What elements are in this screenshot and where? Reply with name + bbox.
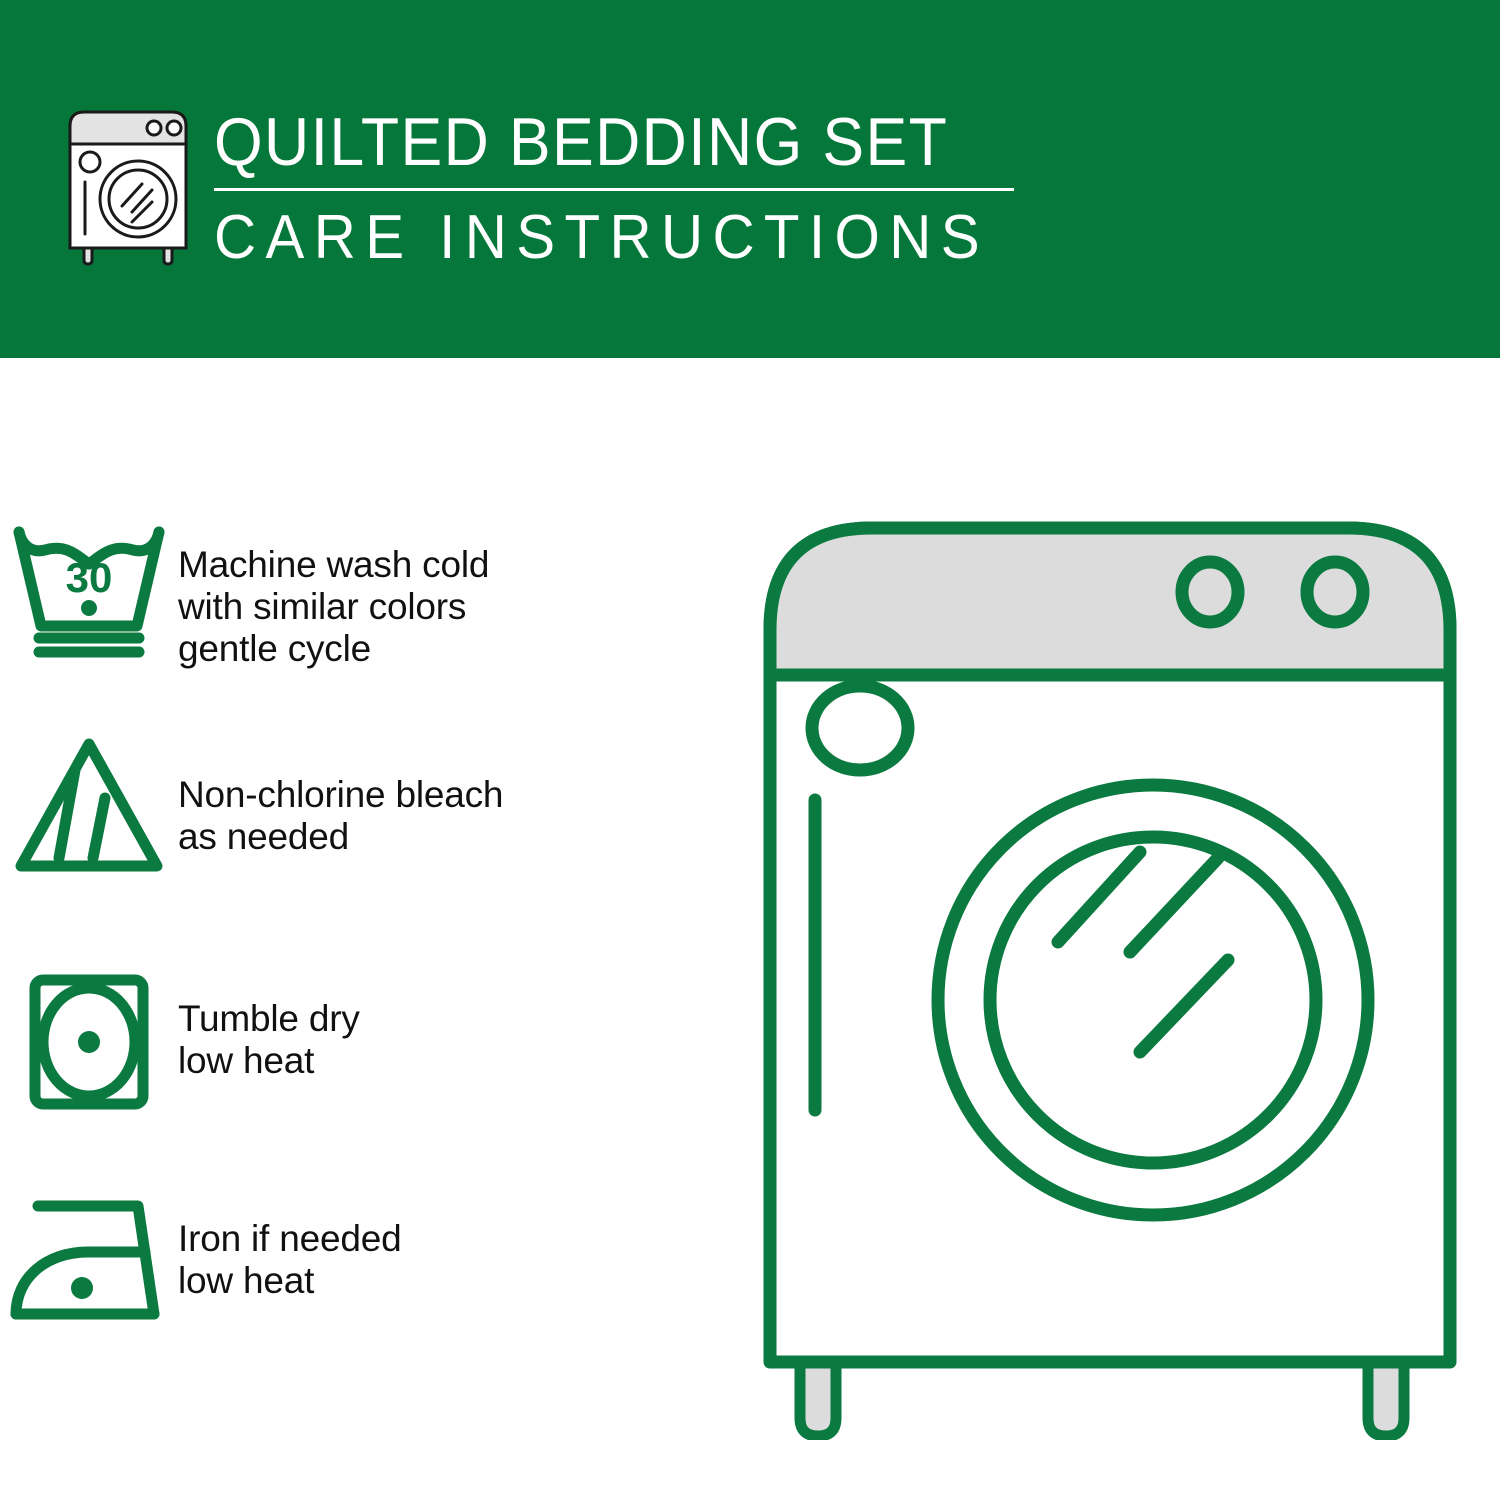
page-subtitle: CARE INSTRUCTIONS [214, 203, 966, 273]
page-title: QUILTED BEDDING SET [214, 104, 950, 180]
tumble-dry-low-icon [0, 970, 178, 1114]
header-banner: QUILTED BEDDING SET CARE INSTRUCTIONS [0, 0, 1500, 358]
care-instruction-row: Non-chlorine bleach as needed [0, 730, 740, 880]
care-instruction-label: Machine wash cold with similar colors ge… [178, 520, 489, 670]
knob-right[interactable] [1307, 562, 1363, 622]
header-text-block: QUILTED BEDDING SET CARE INSTRUCTIONS [214, 104, 1014, 273]
leg-right [1368, 1360, 1404, 1436]
care-instruction-label: Non-chlorine bleach as needed [178, 730, 503, 858]
dial-circle[interactable] [812, 686, 908, 770]
door-inner-ring [990, 837, 1316, 1163]
wash-temperature-value: 30 [66, 554, 113, 601]
title-divider [214, 188, 1014, 191]
leg-left [800, 1360, 836, 1436]
non-chlorine-bleach-triangle-icon [0, 730, 178, 880]
front-load-washing-machine-illustration [740, 500, 1480, 1440]
care-instruction-label: Tumble dry low heat [178, 970, 360, 1082]
washing-machine-icon [62, 104, 194, 266]
care-instruction-row: 30 Machine wash cold with similar colors… [0, 520, 740, 670]
care-instruction-label: Iron if needed low heat [178, 1190, 401, 1302]
knob-left[interactable] [1182, 562, 1238, 622]
care-instruction-row: Tumble dry low heat [0, 970, 740, 1114]
care-instruction-row: Iron if needed low heat [0, 1190, 740, 1330]
machine-wash-30-icon: 30 [0, 520, 178, 660]
iron-low-heat-icon [0, 1190, 178, 1330]
